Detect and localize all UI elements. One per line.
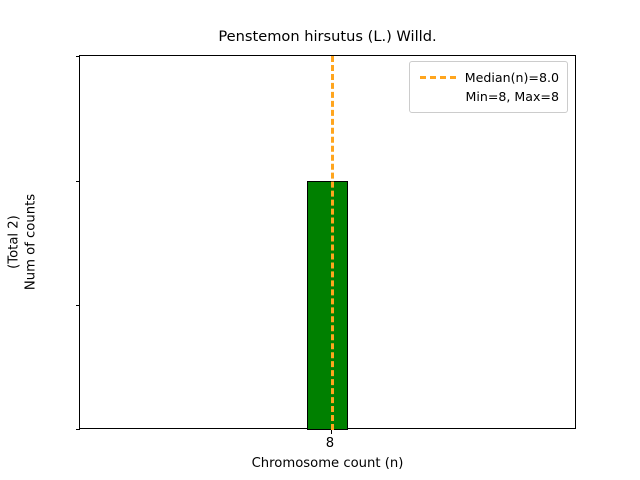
y-axis-label: (Total 2) Num of counts — [0, 55, 46, 429]
chart-figure: Penstemon hirsutus (L.) Willd. (Total 2)… — [0, 0, 640, 480]
x-tick-label-8: 8 — [326, 436, 334, 451]
legend-label-median: Median(n)=8.0 — [465, 70, 559, 85]
y-tick-mark-2 — [76, 181, 80, 182]
bar-category-8 — [307, 181, 348, 430]
y-tick-mark-3 — [76, 56, 80, 57]
y-axis-label-line-2: Num of counts — [23, 194, 40, 290]
y-axis-label-line-1: (Total 2) — [6, 194, 23, 290]
x-axis-label: Chromosome count (n) — [79, 456, 576, 471]
x-tick-mark-8 — [331, 430, 332, 434]
chart-title: Penstemon hirsutus (L.) Willd. — [79, 28, 576, 45]
legend-label-minmax: Min=8, Max=8 — [465, 89, 559, 104]
legend-item-median: Median(n)=8.0 — [418, 68, 559, 87]
median-line — [331, 56, 334, 430]
legend-item-minmax: Min=8, Max=8 — [418, 87, 559, 106]
dashed-line-icon — [420, 76, 456, 79]
legend: Median(n)=8.0 Min=8, Max=8 — [409, 61, 568, 113]
y-tick-mark-1 — [76, 305, 80, 306]
y-tick-mark-0 — [76, 429, 80, 430]
